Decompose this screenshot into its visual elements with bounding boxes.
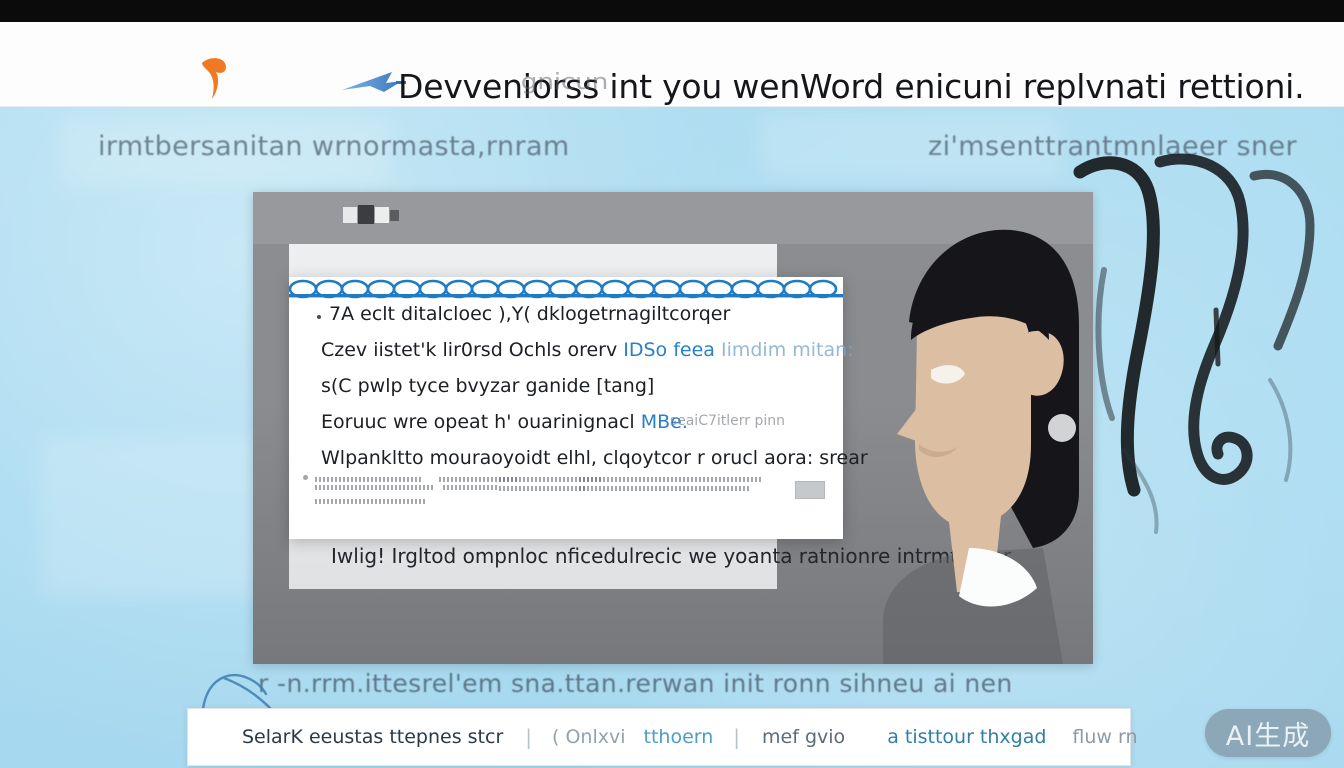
list-item[interactable]: s(C pwlp tyce bvyzar ganide [tang]	[289, 375, 843, 411]
search-input-value[interactable]: SelarK eeustas ttepnes stcr	[242, 726, 503, 748]
list-item[interactable]: 7A eclt ditalcloec ),Y( dklogetrnagiltco…	[289, 303, 843, 339]
header-bar: Devveniorss int you wenWord enicuni repl…	[0, 22, 1344, 107]
search-option-label[interactable]: mef gvio	[762, 726, 845, 748]
ai-generated-badge: AI生成	[1205, 709, 1331, 757]
list-item-label: Wlpankltto mouraoyoidt elhl, clqoytcor r…	[321, 447, 868, 469]
search-divider: |	[733, 725, 740, 749]
footer-thumbnail-icon[interactable]	[795, 481, 825, 499]
background-wash	[40, 437, 280, 597]
search-bar[interactable]: SelarK eeustas ttepnes stcr | ( Onlxvi t…	[187, 708, 1131, 766]
page-title-ghost-overlay: gnicun	[521, 70, 608, 95]
top-black-strip	[0, 0, 1344, 22]
list-item-label: Eoruuc wre opeat h' ouarinignacl MBe.	[321, 411, 688, 433]
list-item-label: s(C pwlp tyce bvyzar ganide [tang]	[321, 375, 654, 397]
blue-paper-plane-icon[interactable]	[340, 68, 406, 100]
list-item-label: 7A eclt ditalcloec ),Y( dklogetrnagiltco…	[329, 303, 730, 325]
search-action-label[interactable]: a tisttour thxgad	[887, 726, 1046, 748]
blue-scalloped-chain-border-icon	[289, 277, 843, 299]
inline-link[interactable]: IDSo feea	[623, 339, 715, 361]
search-divider: |	[525, 725, 532, 749]
list-item-tail: Iimdim mitan:	[715, 339, 854, 361]
list-item-text: Eoruuc wre opeat h' ouarinignacl	[321, 411, 641, 433]
dialog-footer-microtext	[303, 473, 829, 521]
search-filter-value[interactable]: tthoern	[644, 726, 714, 748]
ai-generated-badge-label: AI生成	[1226, 714, 1310, 753]
dialog-content-list: 7A eclt ditalcloec ),Y( dklogetrnagiltco…	[289, 303, 843, 483]
person-profile-illustration-icon	[853, 192, 1093, 664]
background-text-bottom: r -n.rrm.ittesrel'em sna.ttan.rerwan ini…	[258, 669, 1013, 698]
list-item[interactable]: Czev iistet'k lir0rsd Ochls orerv IDSo f…	[289, 339, 843, 375]
file-strip-icon[interactable]	[343, 204, 399, 226]
orange-hook-logo-icon[interactable]	[196, 53, 234, 101]
dialog-card: 7A eclt ditalcloec ),Y( dklogetrnagiltco…	[289, 277, 843, 539]
list-item-text: Czev iistet'k lir0rsd Ochls orerv	[321, 339, 623, 361]
bullet-icon	[317, 315, 321, 319]
screen-root: Devveniorss int you wenWord enicuni repl…	[0, 0, 1344, 768]
list-item[interactable]: Eoruuc wre opeat h' ouarinignacl MBe. se…	[289, 411, 843, 447]
search-hint-label: fluw rn	[1072, 726, 1137, 748]
list-item-label: Czev iistet'k lir0rsd Ochls orerv IDSo f…	[321, 339, 854, 361]
search-filter-label[interactable]: ( Onlxvi	[552, 726, 626, 748]
row-side-note: seaiC7itlerr pinn	[670, 413, 785, 429]
footer-dot-icon	[303, 475, 308, 480]
background-text-left: irmtbersanitan wrnormasta,rnram	[98, 131, 570, 162]
ink-brush-stroke-decoration-icon	[1064, 150, 1344, 570]
